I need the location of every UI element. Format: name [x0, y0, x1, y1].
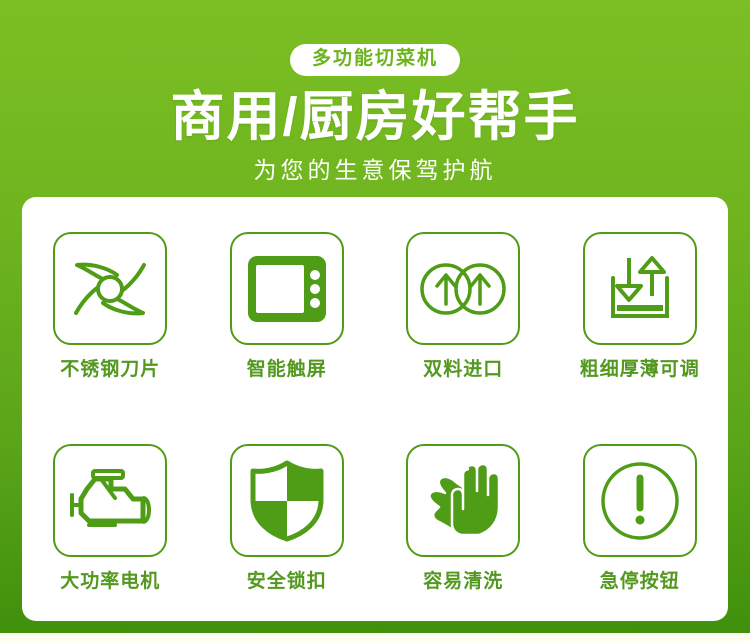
gloves-icon [406, 444, 520, 557]
feature-cell-engine: 大功率电机 [22, 409, 199, 621]
badge-container: 多功能切菜机 [0, 44, 750, 76]
feature-label: 粗细厚薄可调 [580, 360, 700, 381]
features-grid: 不锈钢刀片 智能触屏 [22, 197, 728, 621]
feature-cell-shield: 安全锁扣 [199, 409, 376, 621]
feature-cell-touchscreen: 智能触屏 [199, 197, 376, 409]
shield-lock-icon [230, 444, 344, 557]
feature-cell-emergency-stop: 急停按钮 [552, 409, 729, 621]
product-category-badge: 多功能切菜机 [290, 44, 460, 76]
feature-label: 双料进口 [423, 360, 503, 381]
feature-label: 安全锁扣 [247, 572, 327, 593]
feature-label: 智能触屏 [247, 360, 327, 381]
features-panel: 不锈钢刀片 智能触屏 [22, 197, 728, 621]
product-feature-banner: 多功能切菜机 商用/厨房好帮手 为您的生意保驾护航 不锈钢刀片 [0, 0, 750, 641]
feature-label: 容易清洗 [423, 572, 503, 593]
feature-label: 急停按钮 [600, 572, 680, 593]
blade-icon [53, 232, 167, 345]
touchscreen-icon [230, 232, 344, 345]
feature-label: 大功率电机 [60, 572, 160, 593]
feature-cell-blade: 不锈钢刀片 [22, 197, 199, 409]
feature-cell-thickness: 粗细厚薄可调 [552, 197, 729, 409]
page-subtitle: 为您的生意保驾护航 [0, 157, 750, 185]
feature-label: 不锈钢刀片 [60, 360, 160, 381]
feature-cell-dual-import: 双料进口 [375, 197, 552, 409]
thickness-adjust-icon [583, 232, 697, 345]
engine-icon [53, 444, 167, 557]
bottom-strip [0, 633, 750, 641]
feature-cell-gloves: 容易清洗 [375, 409, 552, 621]
emergency-stop-icon [583, 444, 697, 557]
banner-header: 多功能切菜机 商用/厨房好帮手 为您的生意保驾护航 [0, 0, 750, 185]
dual-import-icon [406, 232, 520, 345]
page-title: 商用/厨房好帮手 [0, 88, 750, 147]
